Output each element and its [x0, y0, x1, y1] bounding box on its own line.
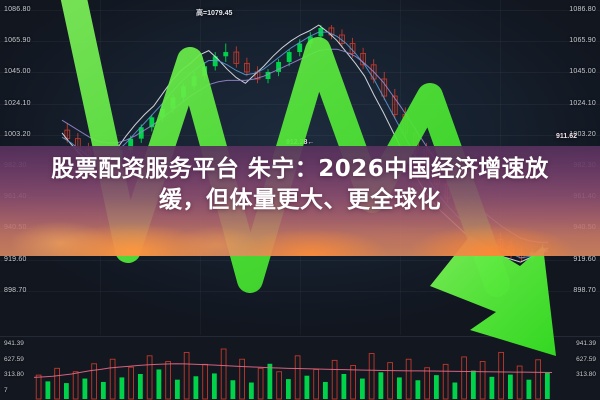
volume-chart-svg [0, 337, 600, 400]
volume-axis-right-tick: 627.59 [576, 356, 596, 363]
volume-chart-pane[interactable] [0, 336, 600, 400]
volume-bar [378, 372, 383, 399]
volume-bar [452, 383, 457, 399]
volume-bar [388, 363, 393, 399]
volume-bar [304, 376, 309, 399]
volume-bar [129, 367, 134, 399]
price-axis-left-tick: 919.60 [4, 256, 27, 263]
volume-bar [277, 372, 282, 399]
high-price-marker: 高=1079.45 [196, 8, 232, 18]
volume-bar [92, 364, 97, 399]
headline-line-1: 股票配资服务平台 朱宁：2026中国经济增速放 [10, 154, 590, 185]
volume-bar [471, 371, 476, 399]
volume-bar [156, 369, 161, 399]
volume-axis-left-tick: 7 [4, 387, 8, 394]
price-axis-left-tick: 1065.90 [4, 37, 31, 44]
volume-bar [462, 357, 467, 399]
price-axis-right-tick: 1024.10 [569, 100, 596, 107]
volume-bar [184, 352, 189, 399]
price-axis-left-tick: 898.70 [4, 287, 27, 294]
volume-bar [55, 368, 60, 399]
volume-bar [36, 375, 41, 399]
price-axis-left-tick: 1003.20 [4, 131, 31, 138]
volume-axis-right-tick: 313.80 [576, 371, 596, 378]
volume-bar [249, 383, 254, 399]
price-axis-left-tick: 1045.00 [4, 68, 31, 75]
volume-bar [258, 368, 263, 399]
volume-bar [212, 373, 217, 399]
price-axis-right-tick: 1045.00 [569, 68, 596, 75]
volume-bar [351, 365, 356, 399]
volume-bar [166, 362, 171, 400]
volume-bar [369, 354, 374, 399]
volume-bar [45, 381, 50, 399]
volume-bar [545, 373, 550, 399]
volume-bar [295, 356, 300, 399]
volume-bar [323, 382, 328, 399]
volume-bar [489, 377, 494, 399]
candle-body [181, 86, 186, 97]
volume-bar [526, 380, 531, 399]
screenshot-root: 1086.801065.901045.001024.101003.20982.3… [0, 0, 600, 400]
price-axis-right-tick: 898.70 [573, 287, 596, 294]
volume-bar [267, 364, 272, 399]
volume-bar [397, 377, 402, 399]
volume-bar [499, 352, 504, 399]
volume-bar [101, 382, 106, 399]
price-axis-right-tick: 919.60 [573, 256, 596, 263]
headline-banner: 股票配资服务平台 朱宁：2026中国经济增速放 缓，但体量更大、更全球化 [0, 146, 600, 256]
volume-bar [443, 364, 448, 399]
volume-bar [536, 360, 541, 399]
volume-bar [147, 356, 152, 399]
volume-bar [286, 379, 291, 399]
volume-bar [221, 349, 226, 399]
volume-bar [193, 376, 198, 399]
volume-bar [138, 374, 143, 399]
candle-body [192, 76, 197, 86]
candle-body [223, 52, 228, 56]
price-axis-left-tick: 1024.10 [4, 100, 31, 107]
candle-body [287, 52, 292, 62]
volume-bar [230, 380, 235, 399]
volume-bar [64, 383, 69, 399]
volume-bar [360, 379, 365, 399]
volume-bar [175, 380, 180, 399]
price-axis-right-tick: 1065.90 [569, 37, 596, 44]
volume-bar [73, 372, 78, 399]
volume-bar [203, 364, 208, 399]
volume-bar [314, 369, 319, 399]
headline-text: 股票配资服务平台 朱宁：2026中国经济增速放 缓，但体量更大、更全球化 [0, 154, 600, 216]
volume-bar [517, 366, 522, 399]
volume-bar [110, 359, 115, 399]
volume-axis-left-tick: 313.80 [4, 371, 24, 378]
volume-axis-left-tick: 941.39 [4, 340, 24, 347]
volume-bar [240, 359, 245, 399]
volume-bar [332, 360, 337, 399]
low-price-marker: 912.28← [286, 139, 314, 146]
volume-bar [82, 379, 87, 399]
candle-body [202, 66, 207, 76]
headline-line-2: 缓，但体量更大、更全球化 [10, 185, 590, 216]
volume-bar [415, 380, 420, 399]
volume-axis-right-tick: 941.39 [576, 340, 596, 347]
volume-bar [434, 375, 439, 399]
volume-axis-left-tick: 627.59 [4, 356, 24, 363]
last-price-marker: 911.62 [556, 133, 577, 140]
price-axis-right-tick: 1086.80 [569, 6, 596, 13]
price-axis-left-tick: 1086.80 [4, 6, 31, 13]
volume-bar [425, 368, 430, 399]
volume-bar [508, 375, 513, 399]
volume-bar [406, 359, 411, 399]
volume-bar [119, 377, 124, 399]
volume-bar [341, 374, 346, 399]
volume-bar [480, 362, 485, 400]
